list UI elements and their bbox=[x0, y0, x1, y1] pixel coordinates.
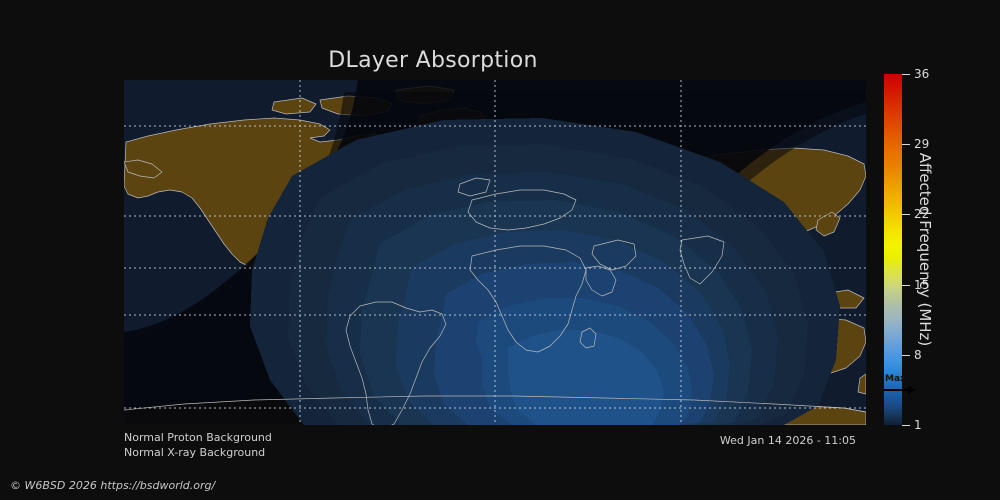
colorbar-axis-title: Affected Frequency (MHz) bbox=[914, 74, 936, 425]
footer-copyright: © W6BSD 2026 https://bsdworld.org/ bbox=[10, 479, 215, 492]
colorbar bbox=[884, 74, 902, 425]
status-block: Normal Proton Background Normal X-ray Ba… bbox=[124, 430, 272, 460]
colorbar-tick-mark bbox=[902, 74, 910, 75]
colorbar-tick-mark bbox=[902, 214, 910, 215]
status-xray-background: Normal X-ray Background bbox=[124, 445, 272, 460]
colorbar-tick-mark bbox=[902, 425, 910, 426]
page-title: DLayer Absorption bbox=[0, 48, 866, 73]
world-map-svg bbox=[124, 80, 866, 425]
dlayer-absorption-screen: DLayer Absorption bbox=[0, 0, 1000, 500]
colorbar-tick-mark bbox=[902, 144, 910, 145]
colorbar-gradient bbox=[884, 74, 902, 425]
colorbar-tick-mark bbox=[902, 285, 910, 286]
world-map-panel[interactable] bbox=[124, 80, 866, 425]
status-proton-background: Normal Proton Background bbox=[124, 430, 272, 445]
colorbar-tick-mark bbox=[902, 355, 910, 356]
timestamp: Wed Jan 14 2026 - 11:05 bbox=[500, 434, 856, 447]
